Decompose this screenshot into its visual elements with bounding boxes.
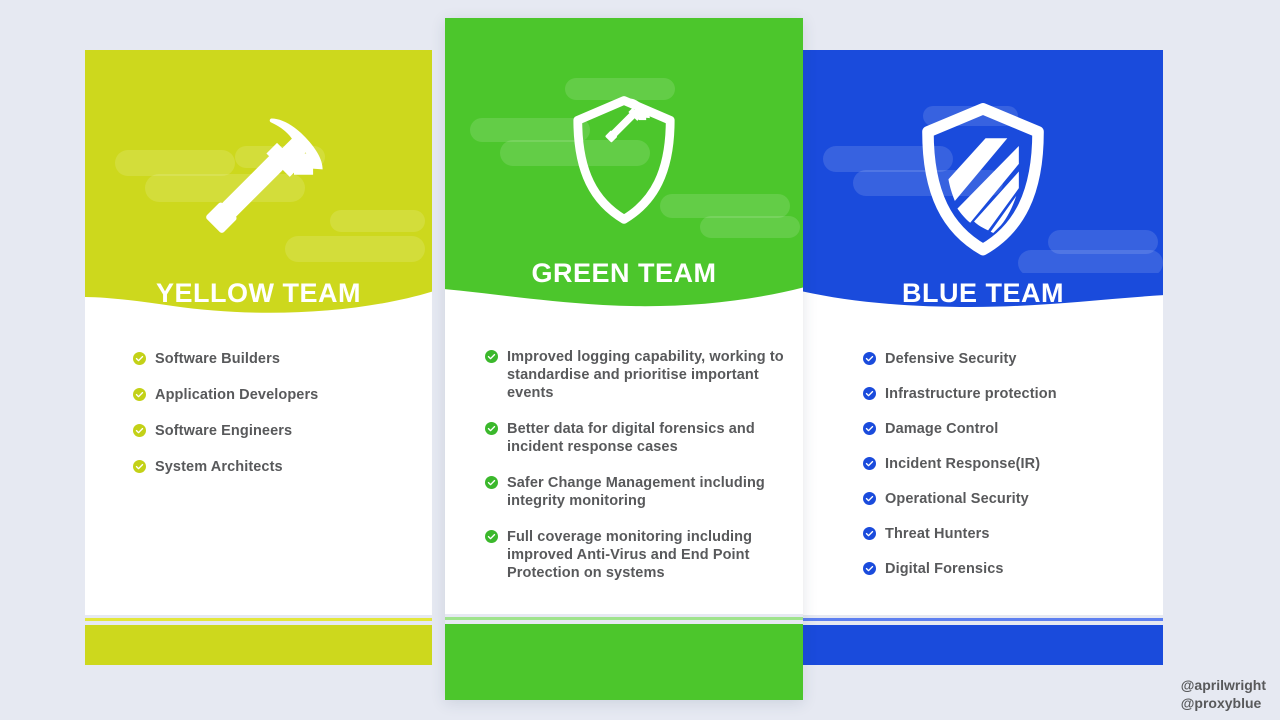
list-item: Software Builders [133, 350, 432, 368]
list-item: Infrastructure protection [863, 385, 1163, 403]
list-item-label: Threat Hunters [885, 525, 990, 543]
shield-hammer-icon [569, 93, 679, 234]
list-item-label: Application Developers [155, 386, 318, 404]
blue-card-icon-wrap [803, 108, 1163, 263]
check-circle-icon [133, 352, 146, 365]
check-circle-icon [863, 352, 876, 365]
card-green-team: Improved logging capability, working to … [445, 18, 803, 700]
list-item-label: Digital Forensics [885, 560, 1004, 578]
list-item: Damage Control [863, 420, 1163, 438]
list-item: Software Engineers [133, 422, 432, 440]
list-item: Safer Change Management including integr… [485, 474, 789, 510]
list-item: System Architects [133, 458, 432, 476]
list-item: Better data for digital forensics and in… [485, 420, 789, 456]
list-item: Digital Forensics [863, 560, 1163, 578]
shield-stripes-icon [919, 103, 1047, 263]
card-title: GREEN TEAM [445, 258, 803, 288]
check-circle-icon [485, 530, 498, 543]
card-blue-team: Defensive Security Infrastructure protec… [803, 50, 1163, 665]
list-item: Threat Hunters [863, 525, 1163, 543]
handle-secondary: @proxyblue [1181, 694, 1266, 712]
list-item-label: Software Builders [155, 350, 280, 368]
check-circle-icon [133, 424, 146, 437]
green-card-icon-wrap [445, 98, 803, 234]
check-circle-icon [485, 476, 498, 489]
check-circle-icon [863, 492, 876, 505]
blue-card-body: Defensive Security Infrastructure protec… [803, 300, 1163, 615]
check-circle-icon [863, 387, 876, 400]
list-item-label: Better data for digital forensics and in… [507, 420, 789, 456]
list-item-label: Operational Security [885, 490, 1029, 508]
list-item-label: Infrastructure protection [885, 385, 1057, 403]
yellow-card-icon-wrap [85, 110, 432, 260]
list-item-label: Damage Control [885, 420, 998, 438]
list-item: Defensive Security [863, 350, 1163, 368]
infographic-stage: Software Builders Application Developers… [0, 0, 1280, 720]
check-circle-icon [863, 457, 876, 470]
list-item: Full coverage monitoring including impro… [485, 528, 789, 582]
check-circle-icon [133, 460, 146, 473]
yellow-footer-bar [85, 625, 432, 665]
list-item-label: Software Engineers [155, 422, 292, 440]
social-handles: @aprilwright @proxyblue [1181, 676, 1266, 712]
list-item-label: Defensive Security [885, 350, 1017, 368]
green-footer-bar [445, 624, 803, 700]
yellow-card-body: Software Builders Application Developers… [85, 300, 432, 615]
yellow-team-list: Software Builders Application Developers… [85, 300, 432, 476]
check-circle-icon [863, 422, 876, 435]
list-item: Incident Response(IR) [863, 455, 1163, 473]
check-circle-icon [863, 562, 876, 575]
blue-team-list: Defensive Security Infrastructure protec… [803, 300, 1163, 578]
list-item: Application Developers [133, 386, 432, 404]
card-title: YELLOW TEAM [85, 278, 432, 308]
check-circle-icon [485, 350, 498, 363]
handle-primary: @aprilwright [1181, 676, 1266, 694]
list-item-label: Incident Response(IR) [885, 455, 1040, 473]
check-circle-icon [485, 422, 498, 435]
blue-divider-rule [803, 618, 1163, 621]
blue-card-header: BLUE TEAM [803, 50, 1163, 318]
check-circle-icon [863, 527, 876, 540]
list-item-label: Improved logging capability, working to … [507, 348, 789, 402]
list-item: Operational Security [863, 490, 1163, 508]
green-divider-rule [445, 617, 803, 620]
list-item: Improved logging capability, working to … [485, 348, 789, 402]
card-yellow-team: Software Builders Application Developers… [85, 50, 432, 665]
list-item-label: System Architects [155, 458, 283, 476]
yellow-card-header: YELLOW TEAM [85, 50, 432, 318]
hammer-icon [184, 105, 334, 260]
green-card-body: Improved logging capability, working to … [445, 300, 803, 614]
list-item-label: Full coverage monitoring including impro… [507, 528, 789, 582]
green-card-header: GREEN TEAM [445, 18, 803, 318]
blue-footer-bar [803, 625, 1163, 665]
yellow-divider-rule [85, 618, 432, 621]
card-title: BLUE TEAM [803, 278, 1163, 308]
list-item-label: Safer Change Management including integr… [507, 474, 789, 510]
green-team-list: Improved logging capability, working to … [445, 300, 803, 582]
check-circle-icon [133, 388, 146, 401]
